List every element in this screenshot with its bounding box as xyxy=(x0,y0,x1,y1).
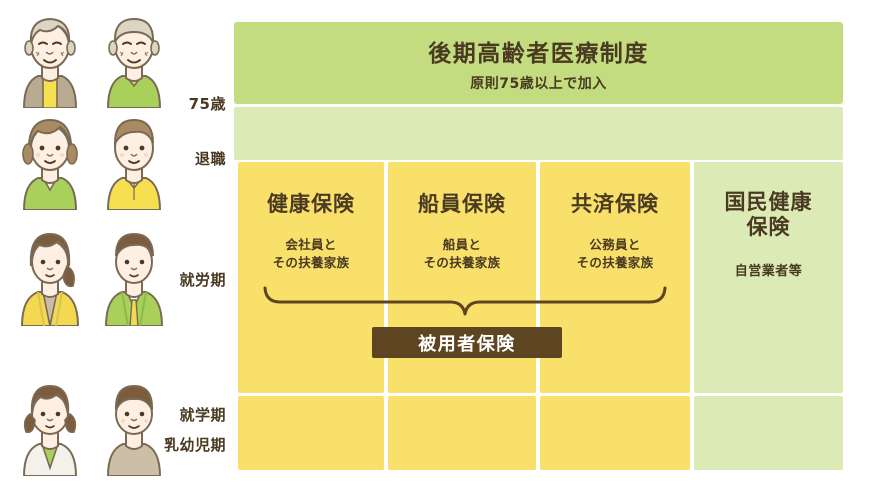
employee-insurance-brace-icon xyxy=(262,286,668,316)
health-insurance-lower-cell xyxy=(238,396,384,470)
insurance-system-diagram: 75歳 退職 就労期 就学期 乳幼児期 後期高齢者医療制度 原則75歳以上で加入… xyxy=(0,0,870,486)
health-insurance-subtitle-line1: 会社員と xyxy=(238,236,384,254)
mutual-aid-insurance-subtitle: 公務員と その扶養家族 xyxy=(540,236,690,272)
mutual-aid-insurance-title: 共済保険 xyxy=(540,188,690,218)
national-health-insurance-title-line1: 国民健康 xyxy=(725,190,813,215)
seamen-insurance-subtitle-line1: 船員と xyxy=(388,236,536,254)
age-label-school: 就学期 xyxy=(148,404,226,425)
seamen-insurance-subtitle: 船員と その扶養家族 xyxy=(388,236,536,272)
health-insurance-title: 健康保険 xyxy=(238,188,384,218)
national-health-insurance-lower-panel xyxy=(694,396,843,470)
national-health-insurance-title: 国民健康 保険 xyxy=(725,190,813,240)
health-insurance-subtitle-line2: その扶養家族 xyxy=(238,254,384,272)
mutual-aid-insurance-subtitle-line1: 公務員と xyxy=(540,236,690,254)
age-label-working: 就労期 xyxy=(148,269,226,290)
employee-insurance-badge: 被用者保険 xyxy=(372,327,562,358)
seamen-insurance-lower-cell xyxy=(388,396,536,470)
late-stage-elderly-medical-system-panel: 後期高齢者医療制度 原則75歳以上で加入 xyxy=(234,22,843,104)
age-label-infancy: 乳幼児期 xyxy=(140,434,226,455)
mutual-aid-insurance-lower-cell xyxy=(540,396,690,470)
school-girl-illustration xyxy=(14,372,86,476)
national-health-insurance-subtitle: 自営業者等 xyxy=(735,260,803,279)
health-insurance-subtitle: 会社員と その扶養家族 xyxy=(238,236,384,272)
employee-insurance-badge-label: 被用者保険 xyxy=(418,330,516,356)
national-health-insurance-panel: 国民健康 保険 自営業者等 xyxy=(694,162,843,393)
working-woman-illustration xyxy=(14,222,86,326)
seamen-insurance-cell: 船員保険 船員と その扶養家族 xyxy=(388,162,536,393)
seamen-insurance-subtitle-line2: その扶養家族 xyxy=(388,254,536,272)
seamen-insurance-title: 船員保険 xyxy=(388,188,536,218)
middle-aged-woman-illustration xyxy=(14,110,86,210)
header-title: 後期高齢者医療制度 xyxy=(428,34,649,68)
mutual-aid-insurance-subtitle-line2: その扶養家族 xyxy=(540,254,690,272)
national-health-insurance-title-line2: 保険 xyxy=(725,215,813,240)
elderly-woman-illustration xyxy=(14,8,86,108)
mutual-aid-insurance-cell: 共済保険 公務員と その扶養家族 xyxy=(540,162,690,393)
age-label-75: 75歳 xyxy=(148,93,226,114)
header-subtitle: 原則75歳以上で加入 xyxy=(470,73,606,93)
health-insurance-cell: 健康保険 会社員と その扶養家族 xyxy=(238,162,384,393)
retirement-transition-band xyxy=(234,107,843,160)
age-label-retirement: 退職 xyxy=(148,148,226,169)
